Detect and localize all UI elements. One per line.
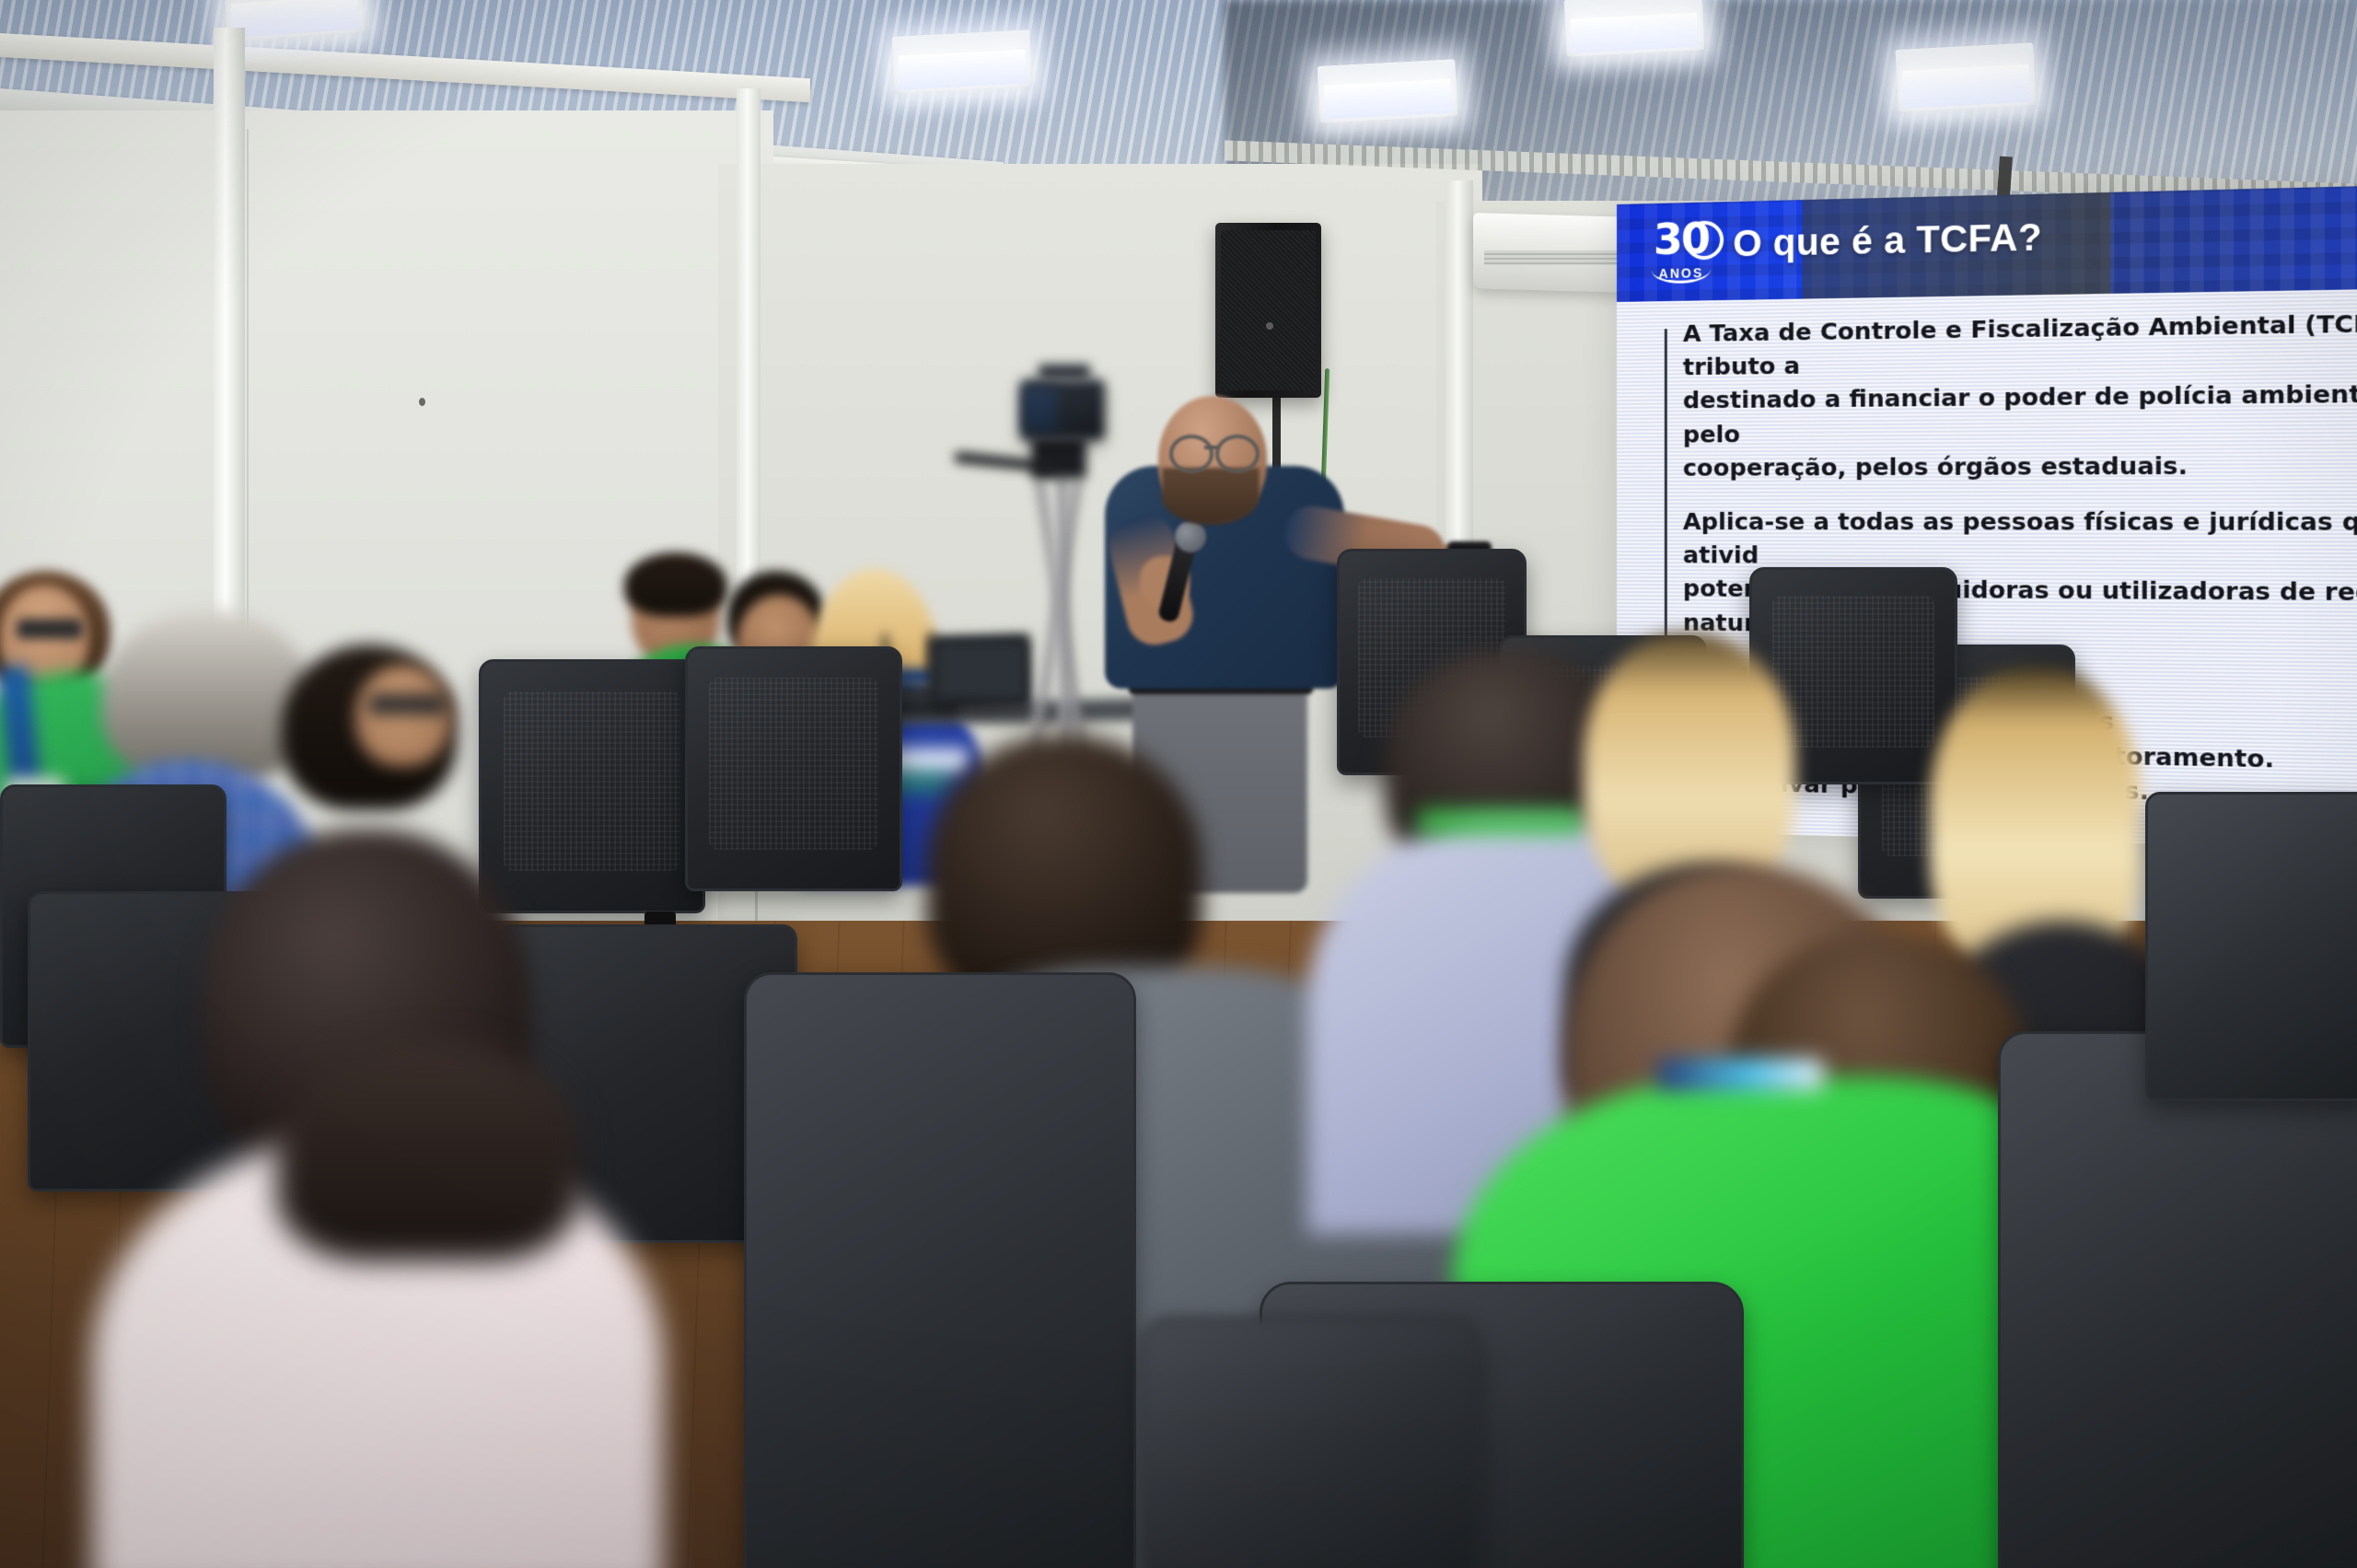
ceiling-light-icon (891, 29, 1032, 94)
laptop-screen (935, 641, 1026, 700)
chair[interactable] (685, 646, 902, 891)
glasses-woman-head (355, 665, 451, 766)
green-polo-man-hair (624, 552, 727, 617)
tripod-head (1031, 436, 1086, 479)
pa-speaker (1215, 223, 1321, 398)
ceiling-light-icon (1317, 59, 1457, 123)
camera-top-plate (1039, 365, 1090, 379)
chair[interactable] (479, 659, 705, 913)
structural-column (214, 28, 245, 709)
ceiling-light-icon (1895, 42, 2036, 112)
eyeglasses-icon (368, 694, 447, 714)
lanyard-badge (1657, 1059, 1823, 1090)
microphone-head-icon (1175, 521, 1206, 552)
logo-word: ANOS (1643, 265, 1720, 282)
slide-line: destinado a financiar o poder de polícia… (1683, 378, 2357, 448)
eyeglasses-bridge-icon (1204, 446, 1219, 449)
presenter-beard (1162, 468, 1260, 525)
slide-header: 30 ANOS O que é a TCFA? (1617, 185, 2357, 302)
slide-line: A Taxa de Controle e Fiscalização Ambien… (1683, 308, 2357, 382)
slide-line: cooperação, pelos órgãos estaduais. (1683, 452, 2188, 482)
wall-mark (419, 398, 425, 406)
white-shirt-attendee-hair (276, 1040, 580, 1261)
plaid-man-hair (101, 610, 313, 784)
chair[interactable] (2145, 792, 2357, 1101)
chair[interactable] (1142, 1317, 1479, 1568)
slide-title: O que é a TCFA? (1733, 216, 2042, 265)
camera-screen (1024, 387, 1057, 431)
conference-room-photo: 30 ANOS O que é a TCFA? A Taxa de Contro… (0, 0, 2357, 1568)
ceiling-light-icon (1563, 0, 1704, 57)
slide-line: Aplica-se a todas as pessoas físicas e j… (1683, 507, 2357, 570)
eyeglasses-icon (1169, 435, 1213, 473)
chair[interactable] (1998, 1031, 2357, 1568)
anniversary-30-logo-icon: 30 ANOS (1643, 213, 1720, 290)
lanyard (1418, 810, 1584, 834)
eyeglasses-icon (1215, 435, 1260, 473)
chair[interactable] (744, 972, 1136, 1568)
eyeglasses-icon (17, 619, 83, 639)
